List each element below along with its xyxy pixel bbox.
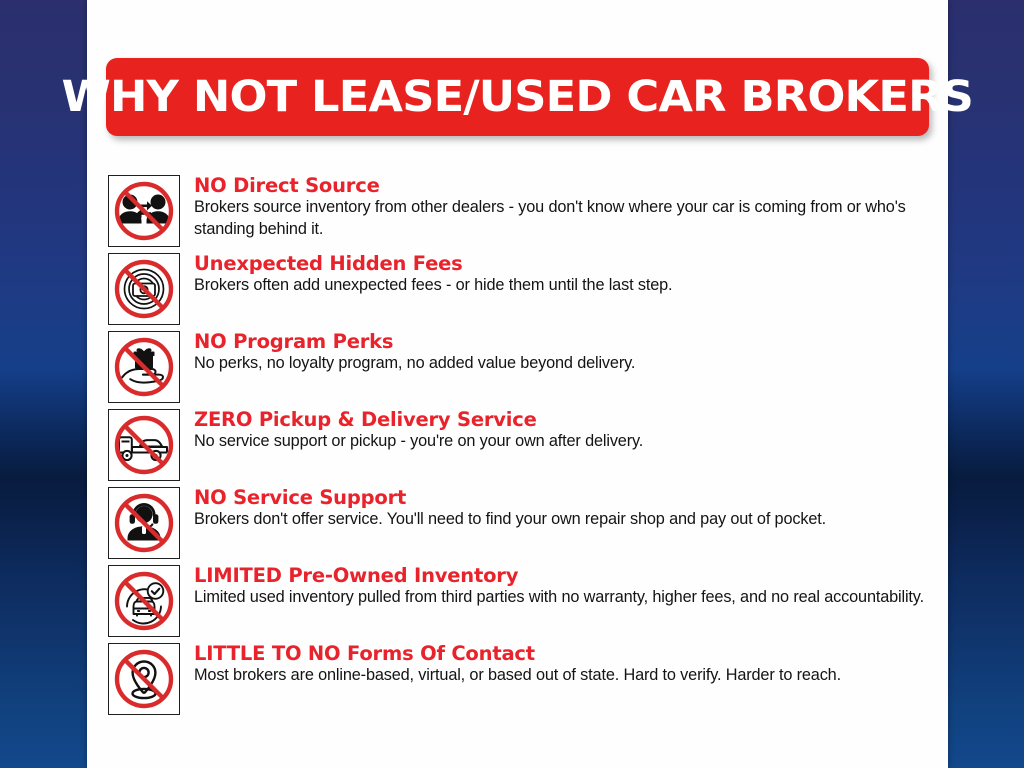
list-item-description: Most brokers are online-based, virtual, … [194,665,924,687]
list-item: ZERO Pickup & Delivery Service No servic… [108,407,930,485]
content-card: WHY NOT LEASE/USED CAR BROKERS [87,0,948,768]
limited-preowned-inventory-icon [108,565,180,637]
list-item: NO Service Support Brokers don't offer s… [108,485,930,563]
page-title: WHY NOT LEASE/USED CAR BROKERS [62,72,974,122]
list-item-text: LIMITED Pre-Owned Inventory Limited used… [180,563,930,609]
list-item-description: No perks, no loyalty program, no added v… [194,353,924,375]
list-item-text: NO Direct Source Brokers source inventor… [180,173,930,240]
title-banner-container: WHY NOT LEASE/USED CAR BROKERS [106,58,929,136]
reasons-list: NO Direct Source Brokers source inventor… [108,173,930,719]
list-item-title: LITTLE TO NO Forms Of Contact [194,642,930,665]
list-item-title: NO Program Perks [194,330,930,353]
list-item-title: NO Service Support [194,486,930,509]
list-item-text: ZERO Pickup & Delivery Service No servic… [180,407,930,453]
list-item: NO Program Perks No perks, no loyalty pr… [108,329,930,407]
list-item-text: Unexpected Hidden Fees Brokers often add… [180,251,930,297]
list-item-description: Brokers don't offer service. You'll need… [194,509,924,531]
list-item: NO Direct Source Brokers source inventor… [108,173,930,251]
list-item-title: NO Direct Source [194,174,930,197]
list-item-description: Limited used inventory pulled from third… [194,587,924,609]
list-item-title: LIMITED Pre-Owned Inventory [194,564,930,587]
no-service-support-icon [108,487,180,559]
list-item-description: No service support or pickup - you're on… [194,431,924,453]
list-item-description: Brokers often add unexpected fees - or h… [194,275,924,297]
list-item: LIMITED Pre-Owned Inventory Limited used… [108,563,930,641]
list-item-title: Unexpected Hidden Fees [194,252,930,275]
no-direct-source-icon [108,175,180,247]
list-item-description: Brokers source inventory from other deal… [194,197,924,240]
title-banner: WHY NOT LEASE/USED CAR BROKERS [106,58,929,136]
list-item-text: NO Service Support Brokers don't offer s… [180,485,930,531]
list-item-text: LITTLE TO NO Forms Of Contact Most broke… [180,641,930,687]
list-item-text: NO Program Perks No perks, no loyalty pr… [180,329,930,375]
list-item: Unexpected Hidden Fees Brokers often add… [108,251,930,329]
no-hidden-fees-icon [108,253,180,325]
no-pickup-delivery-icon [108,409,180,481]
list-item: LITTLE TO NO Forms Of Contact Most broke… [108,641,930,719]
no-forms-of-contact-icon [108,643,180,715]
no-program-perks-icon [108,331,180,403]
list-item-title: ZERO Pickup & Delivery Service [194,408,930,431]
